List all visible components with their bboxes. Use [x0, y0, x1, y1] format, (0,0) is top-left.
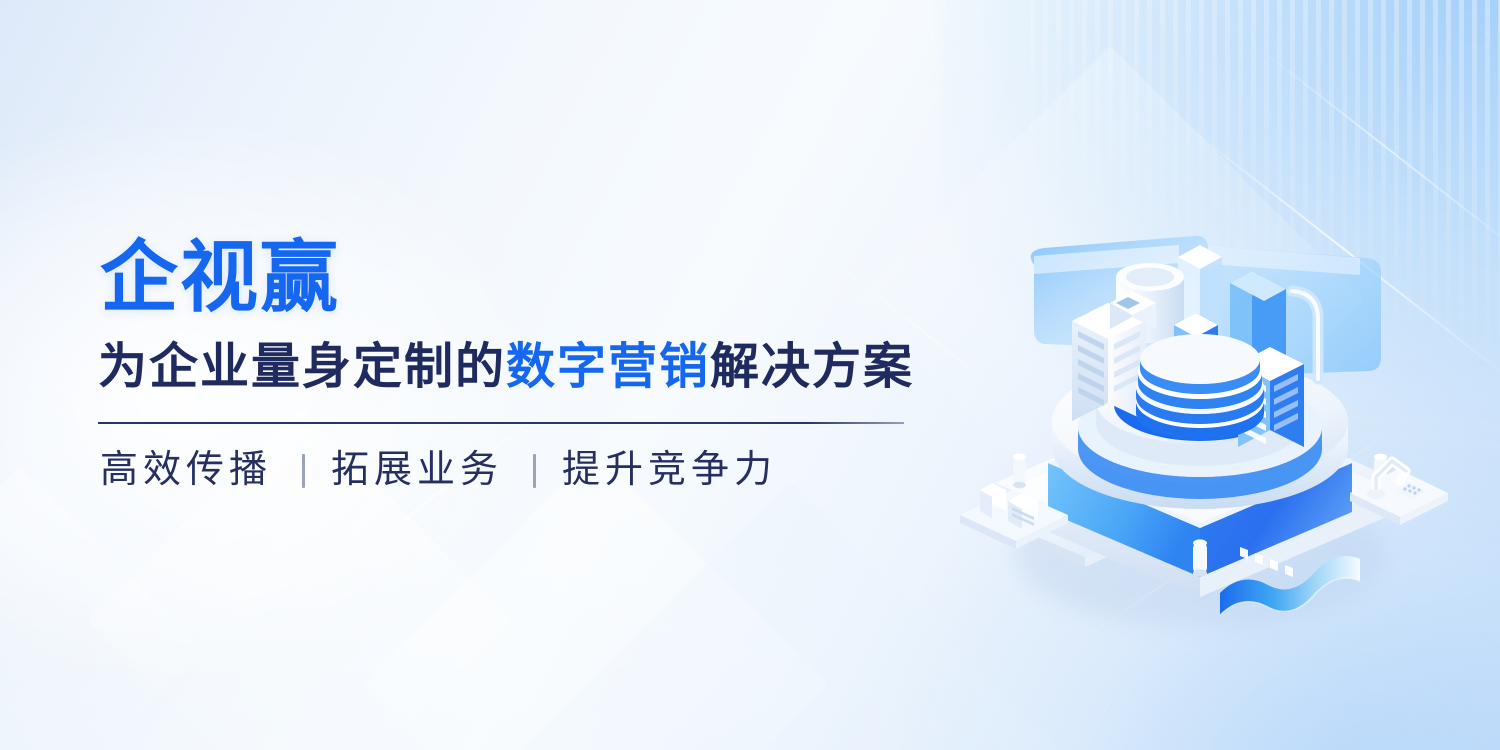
bg-facet-2	[362, 452, 829, 750]
tagline-item-3: 提升竞争力	[562, 450, 777, 492]
tagline: 高效传播 拓展业务 提升竞争力	[100, 450, 926, 492]
headline-prefix: 为企业量身定制的	[98, 340, 506, 394]
headline-accent: 数字营销	[506, 340, 710, 394]
hero-text-block: 企视赢 为企业量身定制的数字营销解决方案 高效传播 拓展业务 提升竞争力	[96, 238, 926, 492]
isometric-illustration	[900, 225, 1500, 655]
tagline-item-2: 拓展业务	[331, 450, 503, 492]
striped-tower-left	[1072, 303, 1146, 421]
corner-post-front	[1193, 539, 1207, 576]
horizontal-divider	[98, 422, 904, 424]
tagline-item-1: 高效传播	[100, 450, 272, 492]
hero-banner: 企视赢 为企业量身定制的数字营销解决方案 高效传播 拓展业务 提升竞争力	[0, 0, 1500, 750]
stacked-disc-tower	[1136, 334, 1264, 440]
tagline-separator-2	[533, 454, 536, 488]
tagline-separator-1	[302, 454, 305, 488]
corner-post-left	[1013, 454, 1026, 489]
bg-facet-3	[0, 466, 204, 750]
headline: 为企业量身定制的数字营销解决方案	[98, 340, 926, 395]
headline-suffix: 解决方案	[710, 340, 914, 394]
brand-title: 企视赢	[100, 238, 926, 318]
